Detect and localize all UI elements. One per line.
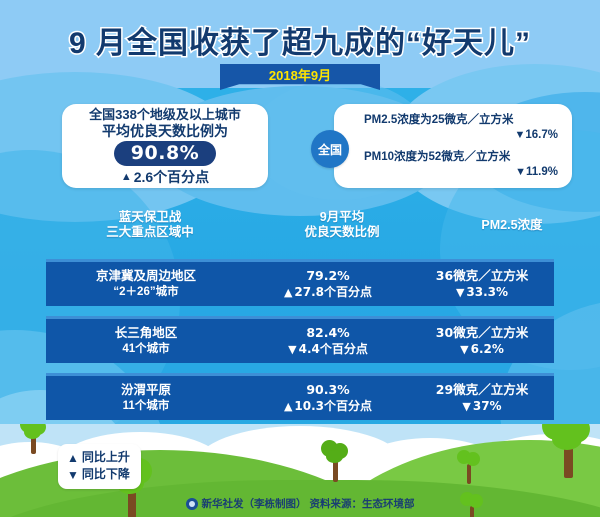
summary-line-1: 全国338个地级及以上城市 bbox=[89, 107, 241, 123]
summary-value-pill: 90.8% bbox=[114, 141, 216, 166]
row-ratio-delta-text: 4.4个百分点 bbox=[299, 341, 368, 358]
tree-icon bbox=[318, 440, 352, 482]
row-region-line1: 长三角地区 bbox=[115, 325, 178, 341]
row-ratio-delta: 10.3个百分点 bbox=[284, 398, 372, 415]
national-badge-label: 全国 bbox=[318, 141, 342, 158]
row-conc-delta: 6.2% bbox=[460, 341, 504, 358]
summary-delta-text: 2.6个百分点 bbox=[134, 167, 209, 187]
tree-icon bbox=[540, 424, 594, 480]
arrow-up-icon bbox=[121, 172, 132, 183]
table-row: 京津冀及周边地区 “2＋26”城市 79.2% 27.8个百分点 36微克／立方… bbox=[46, 259, 554, 306]
tree-icon bbox=[455, 450, 483, 484]
legend-item-up: 同比上升 bbox=[67, 449, 130, 466]
row-region: 汾渭平原 11个城市 bbox=[46, 382, 246, 414]
row-ratio-delta-text: 27.8个百分点 bbox=[294, 284, 372, 301]
column-header-pm25-line1: PM2.5浓度 bbox=[422, 218, 600, 233]
xinhua-logo-icon bbox=[186, 498, 198, 510]
row-conc-value: 29微克／立方米 bbox=[436, 381, 528, 398]
column-header-pm25: PM2.5浓度 bbox=[422, 218, 600, 233]
row-concentration: 36微克／立方米 33.3% bbox=[410, 267, 554, 301]
row-conc-value: 36微克／立方米 bbox=[436, 267, 528, 284]
column-header-ratio-line2: 优良天数比例 bbox=[252, 225, 432, 240]
row-region-line1: 京津冀及周边地区 bbox=[96, 268, 196, 284]
column-header-region-line2: 三大重点区域中 bbox=[40, 225, 260, 240]
arrow-up-icon bbox=[284, 401, 292, 412]
pm10-delta-text: 11.9% bbox=[526, 166, 558, 178]
column-header-region-line1: 蓝天保卫战 bbox=[40, 210, 260, 225]
national-badge: 全国 bbox=[311, 130, 349, 168]
arrow-down-icon bbox=[456, 287, 464, 298]
arrow-down-icon bbox=[460, 344, 468, 355]
arrow-down-icon bbox=[67, 469, 79, 481]
arrow-down-icon bbox=[288, 344, 296, 355]
row-conc-delta: 37% bbox=[462, 398, 501, 415]
legend: 同比上升 同比下降 bbox=[58, 444, 141, 489]
row-concentration: 30微克／立方米 6.2% bbox=[410, 324, 554, 358]
column-headers: 蓝天保卫战 三大重点区域中 9月平均 优良天数比例 PM2.5浓度 bbox=[40, 210, 560, 250]
row-conc-delta-text: 37% bbox=[473, 398, 502, 415]
footer-credit-text: 新华社发（李栋制图） 资料来源：生态环境部 bbox=[202, 496, 415, 511]
pm25-block: PM2.5浓度为25微克／立方米 16.7% bbox=[364, 113, 558, 143]
table-row: 汾渭平原 11个城市 90.3% 10.3个百分点 29微克／立方米 37% bbox=[46, 373, 554, 420]
row-region: 京津冀及周边地区 “2＋26”城市 bbox=[46, 268, 246, 300]
pm10-label: PM10浓度为52微克／立方米 bbox=[364, 150, 558, 165]
row-concentration: 29微克／立方米 37% bbox=[410, 381, 554, 415]
page-title: 9 月全国收获了超九成的“好天儿” bbox=[0, 18, 600, 62]
row-ratio-value: 82.4% bbox=[306, 324, 349, 341]
pm25-delta: 16.7% bbox=[364, 128, 558, 143]
summary-delta: 2.6个百分点 bbox=[121, 167, 209, 187]
row-conc-delta-text: 33.3% bbox=[466, 284, 508, 301]
row-region-line1: 汾渭平原 bbox=[121, 382, 171, 398]
table-row: 长三角地区 41个城市 82.4% 4.4个百分点 30微克／立方米 6.2% bbox=[46, 316, 554, 363]
legend-item-down: 同比下降 bbox=[67, 466, 130, 483]
national-summary-card: 全国338个地级及以上城市 平均优良天数比例为 90.8% 2.6个百分点 bbox=[62, 104, 268, 188]
row-region-line2: “2＋26”城市 bbox=[113, 284, 178, 300]
column-header-region: 蓝天保卫战 三大重点区域中 bbox=[40, 210, 260, 240]
row-ratio: 90.3% 10.3个百分点 bbox=[246, 381, 410, 415]
summary-line-2: 平均优良天数比例为 bbox=[102, 123, 228, 140]
row-ratio-value: 90.3% bbox=[306, 381, 349, 398]
row-ratio-value: 79.2% bbox=[306, 267, 349, 284]
pm10-block: PM10浓度为52微克／立方米 11.9% bbox=[364, 150, 558, 180]
pm25-delta-text: 16.7% bbox=[525, 129, 558, 141]
row-ratio-delta: 27.8个百分点 bbox=[284, 284, 372, 301]
row-ratio-delta: 4.4个百分点 bbox=[288, 341, 368, 358]
row-conc-delta-text: 6.2% bbox=[471, 341, 504, 358]
legend-down-label: 同比下降 bbox=[82, 466, 130, 483]
arrow-down-icon bbox=[515, 130, 526, 141]
column-header-ratio: 9月平均 优良天数比例 bbox=[252, 210, 432, 240]
footer-credit: 新华社发（李栋制图） 资料来源：生态环境部 bbox=[0, 496, 600, 511]
date-ribbon-label: 2018年9月 bbox=[269, 65, 331, 84]
tree-icon bbox=[16, 424, 50, 456]
column-header-ratio-line1: 9月平均 bbox=[252, 210, 432, 225]
arrow-down-icon bbox=[515, 167, 526, 178]
pm25-label: PM2.5浓度为25微克／立方米 bbox=[364, 113, 558, 128]
row-ratio: 82.4% 4.4个百分点 bbox=[246, 324, 410, 358]
legend-up-label: 同比上升 bbox=[82, 449, 130, 466]
row-conc-value: 30微克／立方米 bbox=[436, 324, 528, 341]
arrow-up-icon bbox=[67, 452, 79, 464]
row-region-line2: 41个城市 bbox=[122, 341, 169, 357]
infographic-canvas: 9 月全国收获了超九成的“好天儿” 2018年9月 全国338个地级及以上城市 … bbox=[0, 0, 600, 517]
row-region-line2: 11个城市 bbox=[123, 398, 170, 414]
pm10-delta: 11.9% bbox=[364, 165, 558, 180]
row-region: 长三角地区 41个城市 bbox=[46, 325, 246, 357]
arrow-up-icon bbox=[284, 287, 292, 298]
row-ratio: 79.2% 27.8个百分点 bbox=[246, 267, 410, 301]
arrow-down-icon bbox=[462, 401, 470, 412]
national-pollutant-card: PM2.5浓度为25微克／立方米 16.7% PM10浓度为52微克／立方米 1… bbox=[334, 104, 572, 188]
row-conc-delta: 33.3% bbox=[456, 284, 508, 301]
row-ratio-delta-text: 10.3个百分点 bbox=[294, 398, 372, 415]
